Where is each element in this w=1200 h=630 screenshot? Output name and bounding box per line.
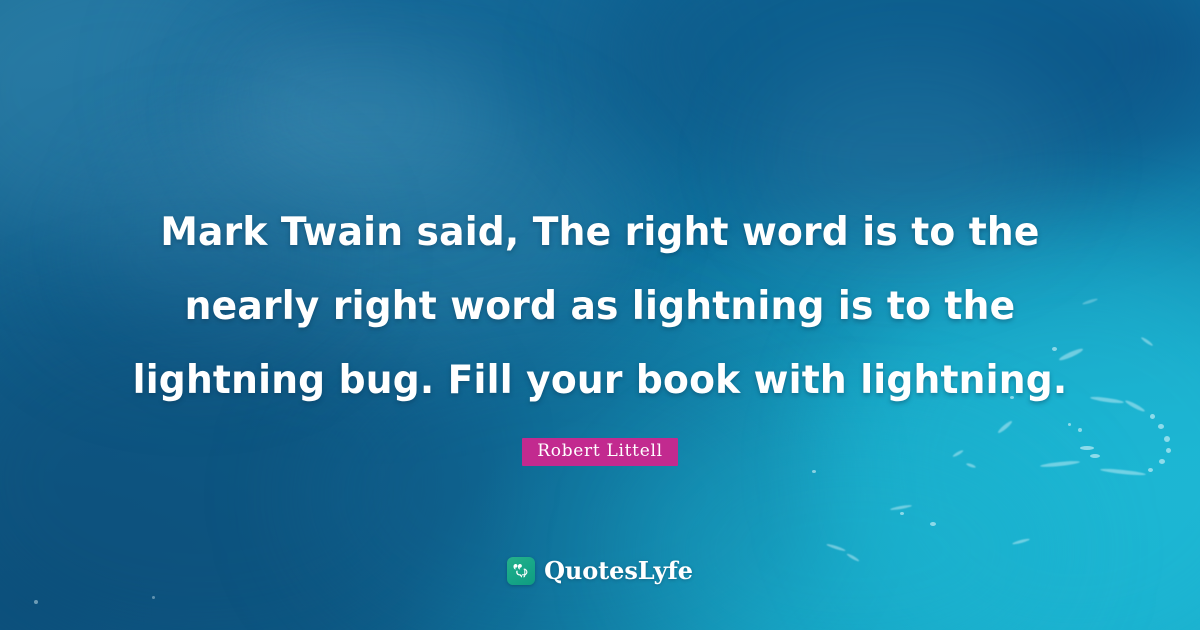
author-row: Robert Littell (0, 438, 1200, 466)
author-badge[interactable]: Robert Littell (522, 438, 677, 466)
quote-line-1: Mark Twain said, The right word is to th… (113, 196, 1088, 270)
quote-bubble-icon (507, 557, 535, 585)
quote-text: Mark Twain said, The right word is to th… (0, 196, 1200, 418)
quote-line-2: nearly right word as lightning is to the (113, 270, 1088, 344)
brand-name: QuotesLyfe (544, 556, 693, 585)
water-blotch (600, 0, 1200, 220)
brand-logo[interactable]: QuotesLyfe (0, 556, 1200, 585)
quote-line-3: lightning bug. Fill your book with light… (113, 344, 1088, 418)
water-blotch (230, 30, 490, 200)
quote-card: Mark Twain said, The right word is to th… (0, 0, 1200, 630)
